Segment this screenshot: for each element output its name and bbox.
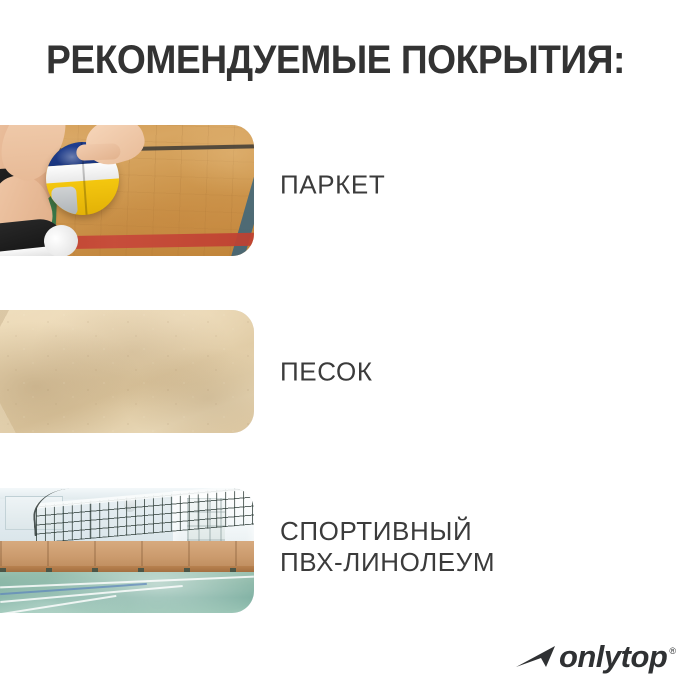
coverage-label-parquet: ПАРКЕТ [280,170,385,201]
gym-pvc-linoleum-floor-photo [0,488,254,613]
gym-wall-panels [0,541,254,569]
onlytop-arrow-mark [515,642,561,672]
page-title: РЕКОМЕНДУЕМЫЕ ПОКРЫТИЯ: [46,38,625,82]
sand-surface [0,310,254,433]
brand-logo-text: onlytop [559,641,667,672]
gym-pvc-floor [0,572,254,613]
gym-interior [0,488,254,613]
sand-surface-photo [0,310,254,433]
page-root: РЕКОМЕНДУЕМЫЕ ПОКРЫТИЯ: ПАР [0,0,700,700]
volleyball-gray-panel [51,186,78,215]
registered-trademark-icon: ® [669,647,676,656]
coverage-label-sand: ПЕСОК [280,357,373,388]
brand-logo: onlytop ® [515,641,676,672]
coverage-label-pvc: СПОРТИВНЫЙ ПВХ-ЛИНОЛЕУМ [280,516,495,578]
parquet-gym-floor-photo [0,125,254,256]
